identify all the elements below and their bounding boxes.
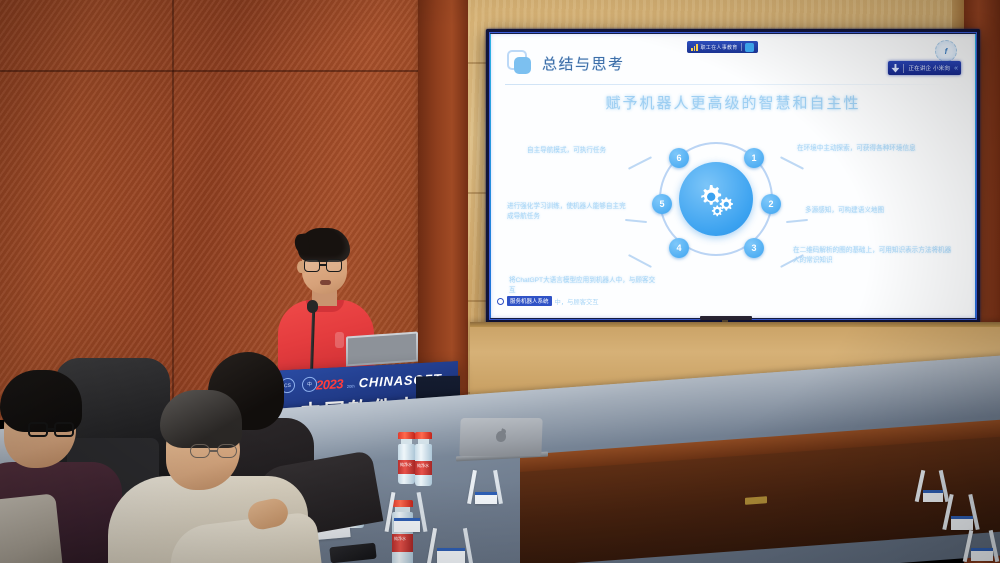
attendee-center xyxy=(118,390,298,563)
water-bottle[interactable]: 纯净水 xyxy=(398,432,415,484)
presentation-display: 总结与思考 职工在人事教育 f 正在讲企 小米向 « 赋予机器人更高级的智慧和自… xyxy=(486,29,980,323)
name-placard xyxy=(944,494,978,532)
macbook-laptop[interactable] xyxy=(460,418,542,460)
gooseneck-microphone xyxy=(307,300,318,313)
presenter-hair xyxy=(298,228,350,262)
name-placard xyxy=(964,530,998,563)
shirt-logo xyxy=(335,332,344,348)
attendee-glasses xyxy=(190,444,238,459)
apple-logo-icon xyxy=(496,431,506,442)
water-bottle[interactable]: 纯净水 xyxy=(415,432,432,486)
presenter-mouth xyxy=(320,280,331,285)
tv-bezel xyxy=(486,29,980,323)
attendee-glasses xyxy=(28,422,74,438)
name-placard xyxy=(468,470,502,506)
conference-room-scene: 总结与思考 职工在人事教育 f 正在讲企 小米向 « 赋予机器人更高级的智慧和自… xyxy=(0,0,1000,563)
presenter-laptop xyxy=(346,331,418,366)
podium-superscript: 20th xyxy=(347,384,355,389)
name-placard xyxy=(386,492,426,534)
attendee-front-left xyxy=(0,370,125,563)
name-placard xyxy=(428,528,472,563)
presenter-glasses xyxy=(304,259,346,272)
podium-year: 2023 xyxy=(316,376,343,392)
